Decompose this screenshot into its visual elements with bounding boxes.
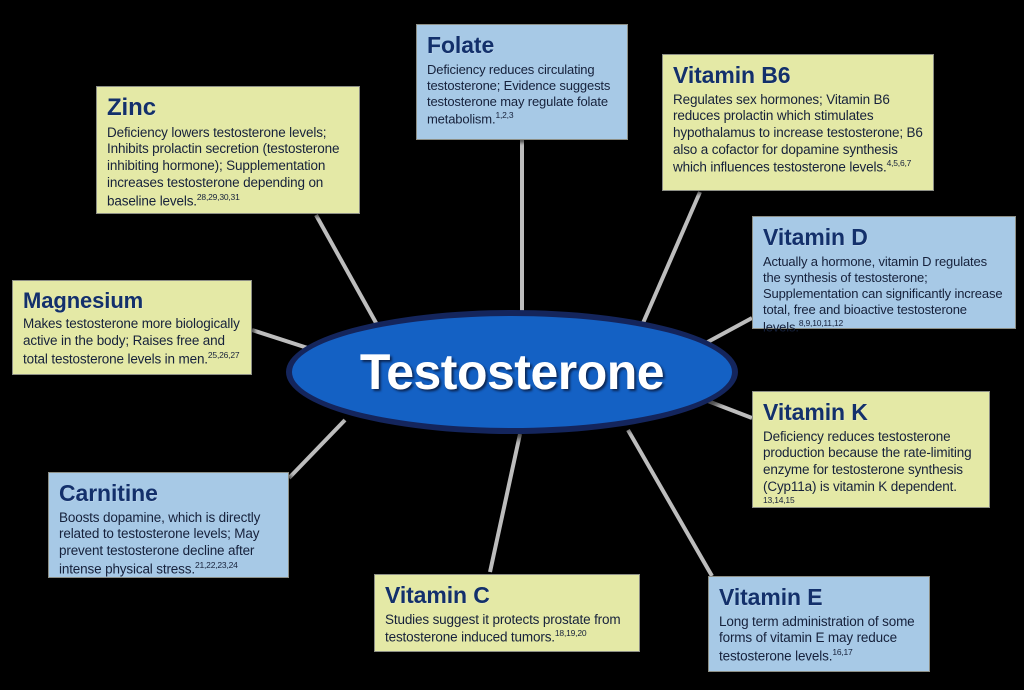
node-vitamin-e-refs: 16,17 [832,647,852,657]
node-vitamin-c-refs: 18,19,20 [555,628,587,638]
node-vitamin-k-body-text: Deficiency reduces testosterone producti… [763,429,971,494]
node-carnitine-title: Carnitine [59,479,279,508]
node-magnesium-refs: 25,26,27 [208,350,240,360]
node-vitamin-k-body: Deficiency reduces testosterone producti… [763,429,980,514]
node-vitamin-b6-title: Vitamin B6 [673,61,924,90]
connector-vitamin-c [490,434,520,572]
connector-vitamin-b6 [640,192,700,330]
connector-zinc [316,215,380,330]
node-carnitine[interactable]: Carnitine Boosts dopamine, which is dire… [48,472,289,578]
node-vitamin-e-title: Vitamin E [719,583,920,612]
node-zinc[interactable]: Zinc Deficiency lowers testosterone leve… [96,86,360,214]
node-vitamin-b6-body: Regulates sex hormones; Vitamin B6 reduc… [673,92,924,177]
node-vitamin-e-body-text: Long term administration of some forms o… [719,614,915,664]
connector-vitamin-d [704,318,752,344]
mindmap-canvas: Testosterone Folate Deficiency reduces c… [0,0,1024,690]
node-vitamin-c-title: Vitamin C [385,581,630,610]
connector-carnitine [289,420,345,478]
node-magnesium[interactable]: Magnesium Makes testosterone more biolog… [12,280,252,375]
node-vitamin-k[interactable]: Vitamin K Deficiency reduces testosteron… [752,391,990,508]
node-vitamin-b6-refs: 4,5,6,7 [887,158,912,168]
node-vitamin-e[interactable]: Vitamin E Long term administration of so… [708,576,930,672]
center-node-testosterone[interactable]: Testosterone [286,310,738,434]
node-vitamin-b6-body-text: Regulates sex hormones; Vitamin B6 reduc… [673,92,923,175]
node-vitamin-c-body: Studies suggest it protects prostate fro… [385,612,630,647]
node-folate-body-text: Deficiency reduces circulating testoster… [427,62,610,127]
node-vitamin-d-title: Vitamin D [763,223,1006,252]
node-vitamin-b6[interactable]: Vitamin B6 Regulates sex hormones; Vitam… [662,54,934,191]
node-magnesium-title: Magnesium [23,287,242,314]
node-vitamin-d[interactable]: Vitamin D Actually a hormone, vitamin D … [752,216,1016,329]
node-folate-refs: 1,2,3 [495,110,513,120]
node-zinc-body: Deficiency lowers testosterone levels; I… [107,125,350,210]
connector-vitamin-e [628,430,712,576]
node-vitamin-e-body: Long term administration of some forms o… [719,614,920,666]
node-vitamin-d-body: Actually a hormone, vitamin D regulates … [763,254,1006,336]
node-vitamin-k-refs: 13,14,15 [763,495,795,505]
node-vitamin-d-refs: 8,9,10,11,12 [799,318,843,328]
node-zinc-title: Zinc [107,93,350,123]
node-vitamin-c[interactable]: Vitamin C Studies suggest it protects pr… [374,574,640,652]
node-zinc-refs: 28,29,30,31 [197,192,240,202]
node-folate-body: Deficiency reduces circulating testoster… [427,62,618,128]
node-folate[interactable]: Folate Deficiency reduces circulating te… [416,24,628,140]
node-vitamin-k-title: Vitamin K [763,398,980,427]
node-magnesium-body: Makes testosterone more biologically act… [23,316,242,368]
node-carnitine-refs: 21,22,23,24 [195,560,238,570]
center-node-label: Testosterone [360,343,664,401]
node-carnitine-body: Boosts dopamine, which is directly relat… [59,510,279,578]
node-folate-title: Folate [427,31,618,60]
